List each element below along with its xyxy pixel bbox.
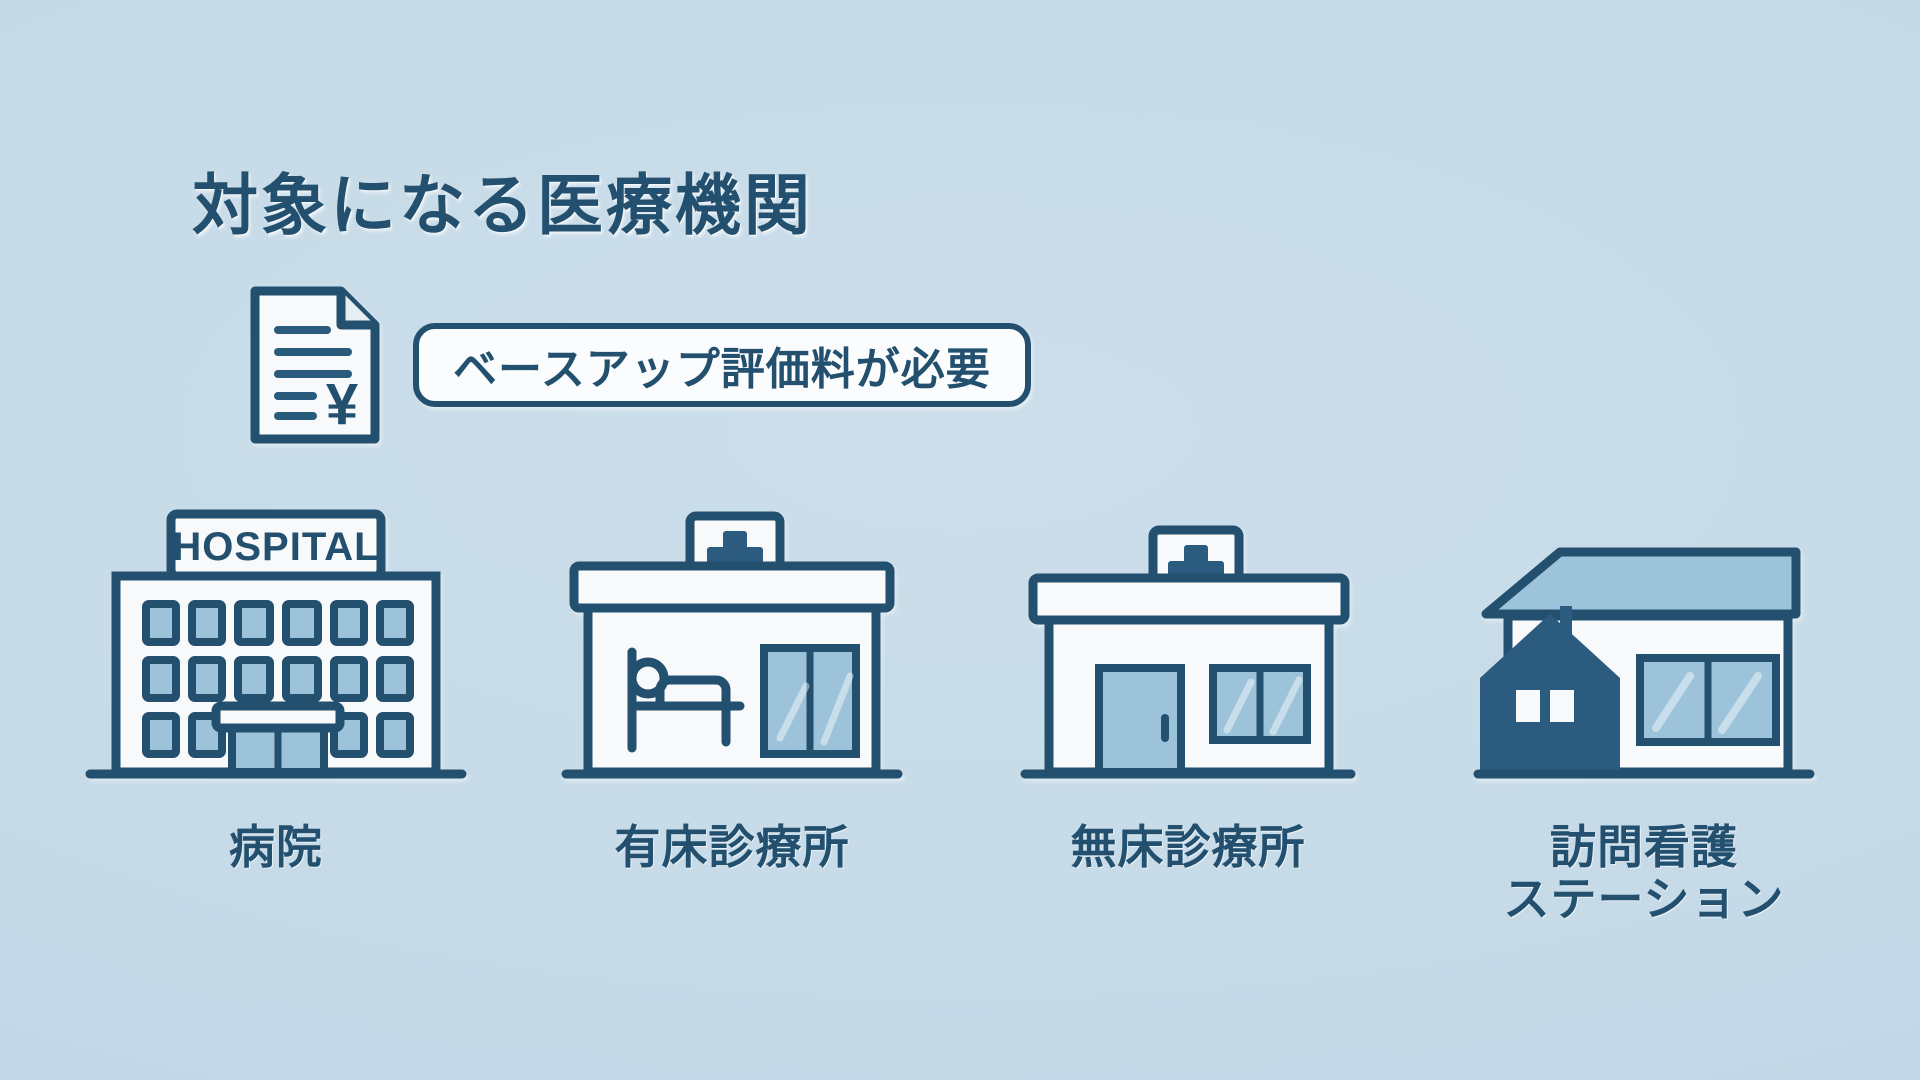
clinic-no-bed-art: [1013, 490, 1363, 800]
hospital-sign-text: HOSPITAL: [172, 525, 379, 569]
infographic-canvas: 対象になる医療機関 ¥ ベースアップ評価料が必要: [0, 0, 1920, 1080]
facility-list: HOSPITAL: [0, 490, 1920, 925]
facility-caption-clinic-without-beds: 無床診療所: [1071, 822, 1306, 874]
facility-card-hospital: HOSPITAL: [66, 490, 486, 874]
facility-caption-clinic-with-beds: 有床診療所: [615, 822, 850, 874]
requirement-badge-label: ベースアップ評価料が必要: [453, 333, 991, 397]
facility-card-clinic-with-beds: 有床診療所: [522, 490, 942, 874]
visiting-nursing-station-art: [1464, 490, 1824, 800]
hospital-art: HOSPITAL: [76, 490, 476, 800]
roof: [1486, 552, 1796, 614]
yen-symbol: ¥: [326, 372, 358, 437]
facility-card-visiting-nursing-station: 訪問看護 ステーション: [1434, 490, 1854, 925]
page-title: 対象になる医療機関: [192, 152, 813, 248]
hospital-building-icon: HOSPITAL: [76, 500, 476, 800]
clinic-no-bed-icon: [1013, 500, 1363, 800]
facility-caption-visiting-nursing-station: 訪問看護 ステーション: [1503, 822, 1784, 925]
clinic-with-bed-icon: [552, 500, 912, 800]
document-yen-icon: ¥: [245, 282, 385, 448]
requirement-badge: ベースアップ評価料が必要: [413, 323, 1031, 407]
visiting-nursing-station-icon: [1464, 500, 1824, 800]
chimney: [1560, 606, 1572, 654]
facility-caption-hospital: 病院: [229, 822, 323, 874]
clinic-with-bed-art: [552, 490, 912, 800]
requirement-badge-row: ¥ ベースアップ評価料が必要: [245, 282, 1031, 448]
facility-card-clinic-without-beds: 無床診療所: [978, 490, 1398, 874]
